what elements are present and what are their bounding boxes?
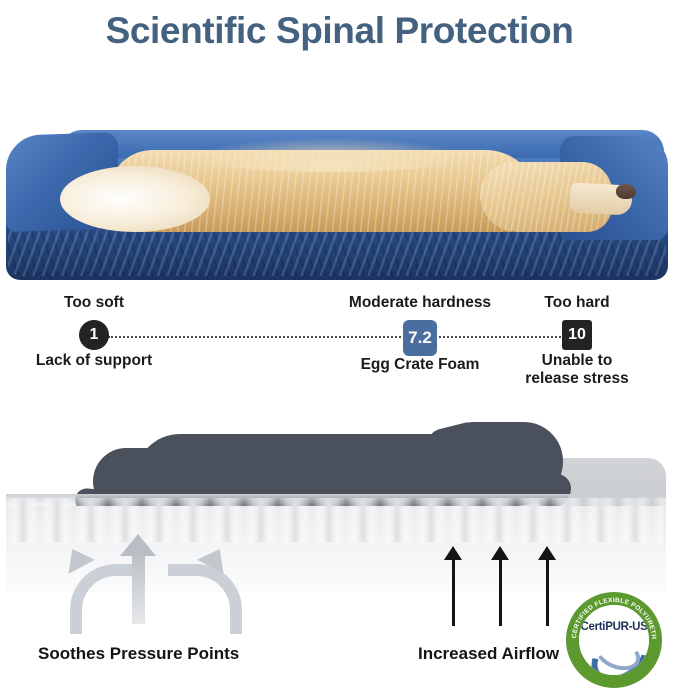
scale-stop-bottom-label-line2: release stress (525, 370, 628, 387)
scale-marker-10: 10 (562, 320, 592, 350)
scale-stop-top-label: Moderate hardness (349, 294, 491, 312)
product-photo (0, 62, 679, 290)
scale-stop-bottom-label: Lack of support (36, 352, 152, 370)
certipur-inner: CertiPUR-US (579, 605, 649, 675)
airflow-arrow-head-1 (444, 546, 462, 560)
scale-stop-bottom-label-line1: Unable to (542, 352, 613, 369)
page-title: Scientific Spinal Protection (0, 0, 679, 62)
pressure-arrow-center-shaft (132, 550, 145, 624)
airflow-arrow-head-2 (491, 546, 509, 560)
scale-stop-bottom-label: Unable to release stress (525, 352, 628, 388)
scale-dotted-line (108, 336, 564, 338)
dog-chest-fur (60, 166, 210, 232)
certipur-name: CertiPUR-US (579, 621, 649, 633)
dog-photo (60, 132, 620, 237)
airflow-arrow-shaft-2 (499, 558, 502, 626)
benefit-label-airflow: Increased Airflow (418, 644, 559, 664)
foam-egg-crate-peaks (6, 498, 666, 542)
hardness-scale: Too soft 1 Lack of support Moderate hard… (0, 292, 679, 392)
airflow-arrow-head-3 (538, 546, 556, 560)
scale-stop-top-label: Too soft (64, 294, 124, 312)
dog-nose (616, 184, 636, 199)
certipur-us-badge: CONTAINS CERTIFIED FLEXIBLE POLYURETHANE… (566, 592, 662, 688)
benefit-label-pressure: Soothes Pressure Points (38, 644, 239, 664)
infographic-page: Scientific Spinal Protection Too soft 1 … (0, 0, 679, 691)
scale-stop-top-label: Too hard (544, 294, 609, 312)
scale-marker-1: 1 (79, 320, 109, 350)
airflow-arrow-shaft-1 (452, 558, 455, 626)
airflow-arrow-shaft-3 (546, 558, 549, 626)
pressure-arrow-center-head (120, 534, 156, 556)
scale-marker-7-2: 7.2 (403, 320, 437, 356)
page-title-text: Scientific Spinal Protection (106, 10, 574, 52)
dog-back-fur (180, 138, 480, 172)
scale-stop-bottom-label: Egg Crate Foam (361, 356, 480, 374)
